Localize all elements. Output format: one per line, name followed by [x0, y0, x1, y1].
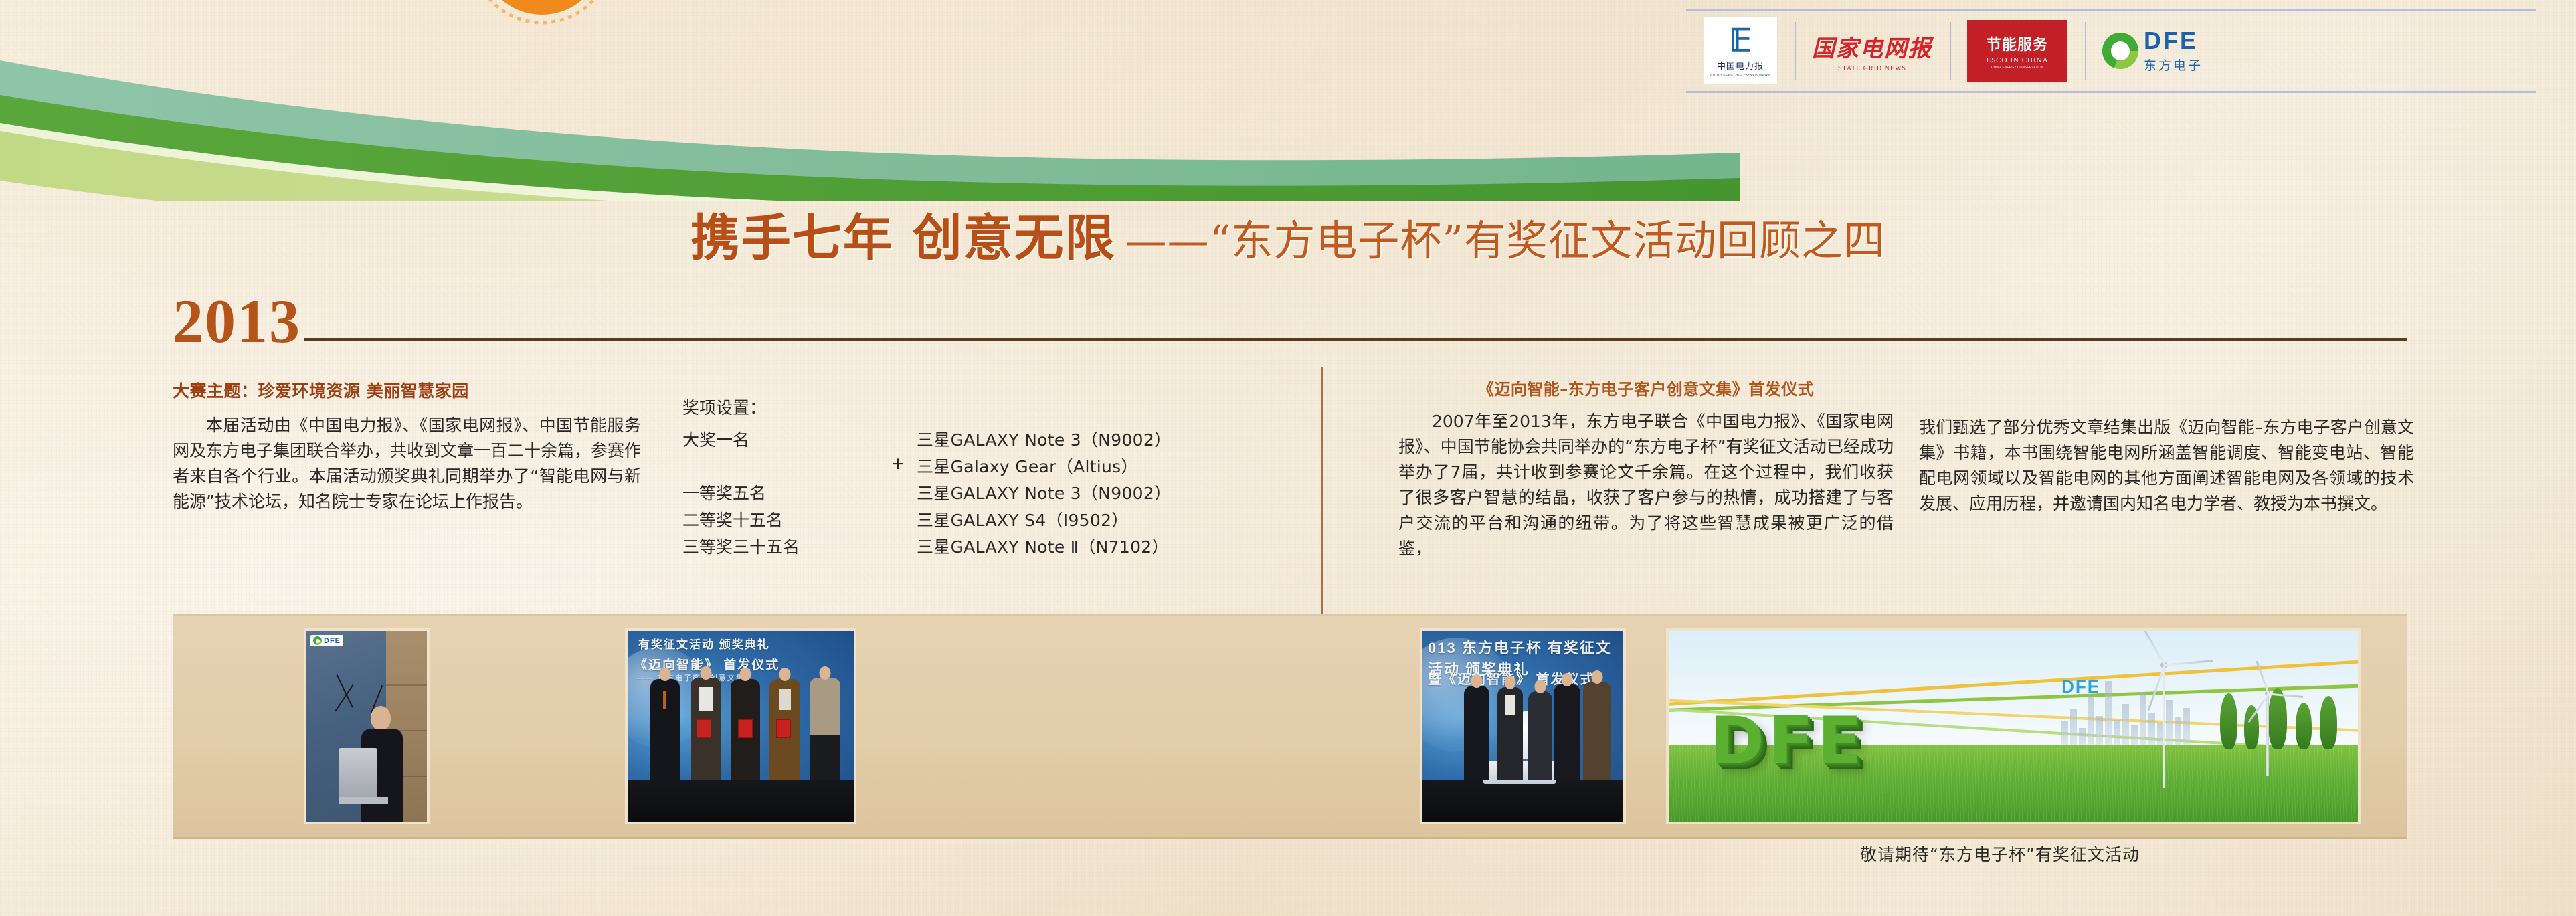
column-awards: 奖项设置： 大奖一名 三星GALAXY Note 3（N9002） + 三星Ga… [682, 395, 1258, 559]
book-content-paragraph: 我们甄选了部分优秀文章结集出版《迈向智能–东方电子客户创意文集》书籍，本书围绕智… [1919, 415, 2414, 517]
award-name [682, 452, 883, 479]
sponsor-esco-in-china: 节能服务 ESCO IN CHINA CHINA ENERGY CONSERVA… [1950, 17, 2085, 85]
year-rule [304, 338, 2407, 341]
headline-sub: ——“东方电子杯”有奖征文活动回顾之四 [1125, 207, 1885, 267]
page-title: 携手七年 创意无限——“东方电子杯”有奖征文活动回顾之四 [0, 198, 2576, 270]
sponsor-label: 国家电网报 [1812, 30, 1932, 63]
award-prize: 三星Galaxy Gear（Altius） [913, 452, 1171, 479]
headline-main: 携手七年 创意无限 [691, 198, 1116, 270]
photo-dfe-green-grid-artwork: DFE DFE [1669, 631, 2358, 822]
green-swoosh-graphic [0, 0, 1740, 201]
logobar-rule-top [1686, 9, 2536, 11]
awards-table: 大奖一名 三星GALAXY Note 3（N9002） + 三星Galaxy G… [682, 426, 1171, 559]
book-launch-paragraph: 2007年至2013年，东方电子联合《中国电力报》、《国家电网报》、中国节能协会… [1398, 409, 1894, 561]
award-name: 三等奖三十五名 [682, 533, 883, 559]
award-name: 一等奖五名 [682, 479, 883, 506]
sponsor-label: 中国电力报 [1717, 59, 1764, 72]
sponsor-subsublabel: CHINA ENERGY CONSERVATION [1991, 66, 2043, 70]
sponsor-label: DFE [2144, 29, 2203, 53]
photo-dfe-small-logo: DFE [2061, 676, 2100, 697]
column-book-launch: 《迈向智能–东方电子客户创意文集》首发仪式 2007年至2013年，东方电子联合… [1398, 376, 1894, 561]
sponsor-sublabel: CHINA ELECTRIC POWER NEWS [1710, 73, 1771, 76]
sponsor-sublabel: 东方电子 [2144, 56, 2203, 74]
sponsor-dongfang-electronics: DFE 东方电子 [2085, 17, 2220, 85]
contest-subject: 大赛主题：珍爱环境资源 美丽智慧家园 [173, 378, 641, 402]
table-row: 一等奖五名 三星GALAXY Note 3（N9002） [682, 479, 1171, 506]
sponsor-china-electric-power-news: 𝔼 中国电力报 CHINA ELECTRIC POWER NEWS [1686, 17, 1795, 85]
dfe-swirl-icon [313, 636, 322, 645]
table-row: 三等奖三十五名 三星GALAXY Note Ⅱ（N7102） [682, 533, 1171, 559]
table-row: 大奖一名 三星GALAXY Note 3（N9002） [682, 426, 1171, 452]
award-plus [883, 533, 913, 559]
sponsor-sublabel: ESCO IN CHINA [1986, 56, 2048, 64]
photo-launch-ceremony: 013 东方电子杯 有奖征文活动 颁奖典礼 暨《迈向智能》 首发仪式 [1422, 631, 1623, 822]
award-name: 二等奖十五名 [682, 506, 883, 533]
award-prize: 三星GALAXY Note 3（N9002） [913, 479, 1171, 506]
award-prize: 三星GALAXY Note Ⅱ（N7102） [913, 533, 1171, 559]
photo-award-winners-group: 有奖征文活动 颁奖典礼 《迈向智能》 首发仪式 —— 东方电子客户创意文集 [628, 631, 854, 822]
photo-dfe-3d-logo: DFE [1710, 703, 1866, 780]
logobar-rule-bottom [1686, 91, 2536, 93]
award-plus [883, 479, 913, 506]
award-plus: + [883, 452, 913, 479]
poster-canvas: 𝔼 中国电力报 CHINA ELECTRIC POWER NEWS 国家电网报 … [0, 0, 2576, 916]
year-heading: 2013 [173, 294, 2407, 349]
sponsor-label: 节能服务 [1987, 33, 2048, 54]
sponsor-state-grid-news: 国家电网报 STATE GRID NEWS [1795, 17, 1950, 85]
photo-forum-speaker: DFE [306, 631, 427, 822]
photo-backdrop-logo-text: DFE [324, 637, 341, 645]
cep-logo-icon: 𝔼 [1729, 25, 1752, 56]
award-name: 大奖一名 [682, 426, 883, 452]
column-book-content: 我们甄选了部分优秀文章结集出版《迈向智能–东方电子客户创意文集》书籍，本书围绕智… [1919, 415, 2414, 517]
awards-title: 奖项设置： [682, 395, 1258, 419]
table-row: 二等奖十五名 三星GALAXY S4（I9502） [682, 506, 1171, 533]
award-prize: 三星GALAXY S4（I9502） [913, 506, 1171, 533]
award-plus [883, 426, 913, 452]
award-prize: 三星GALAXY Note 3（N9002） [913, 426, 1171, 452]
column-overview: 大赛主题：珍爱环境资源 美丽智慧家园 本届活动由《中国电力报》、《国家电网报》、… [173, 378, 641, 515]
overview-paragraph: 本届活动由《中国电力报》、《国家电网报》、中国节能服务网及东方电子集团联合举办，… [173, 413, 641, 515]
award-plus [883, 506, 913, 533]
photo-band: DFE 有奖征文活动 颁奖典礼 《迈向智能》 首发仪式 —— 东方电子客户创意文… [173, 614, 2407, 839]
sponsor-logo-bar: 𝔼 中国电力报 CHINA ELECTRIC POWER NEWS 国家电网报 … [1686, 9, 2556, 93]
photo-backdrop-dfe-logo: DFE [310, 635, 343, 646]
footer-note: 敬请期待“东方电子杯”有奖征文活动 [1860, 842, 2409, 866]
dfe-swirl-icon [2102, 33, 2138, 69]
book-launch-title: 《迈向智能–东方电子客户创意文集》首发仪式 [1398, 376, 1894, 399]
photo-backdrop-line1: 有奖征文活动 颁奖典礼 [638, 635, 770, 652]
table-row: + 三星Galaxy Gear（Altius） [682, 452, 1171, 479]
year-number: 2013 [173, 294, 301, 349]
sponsor-sublabel: STATE GRID NEWS [1838, 65, 1906, 72]
